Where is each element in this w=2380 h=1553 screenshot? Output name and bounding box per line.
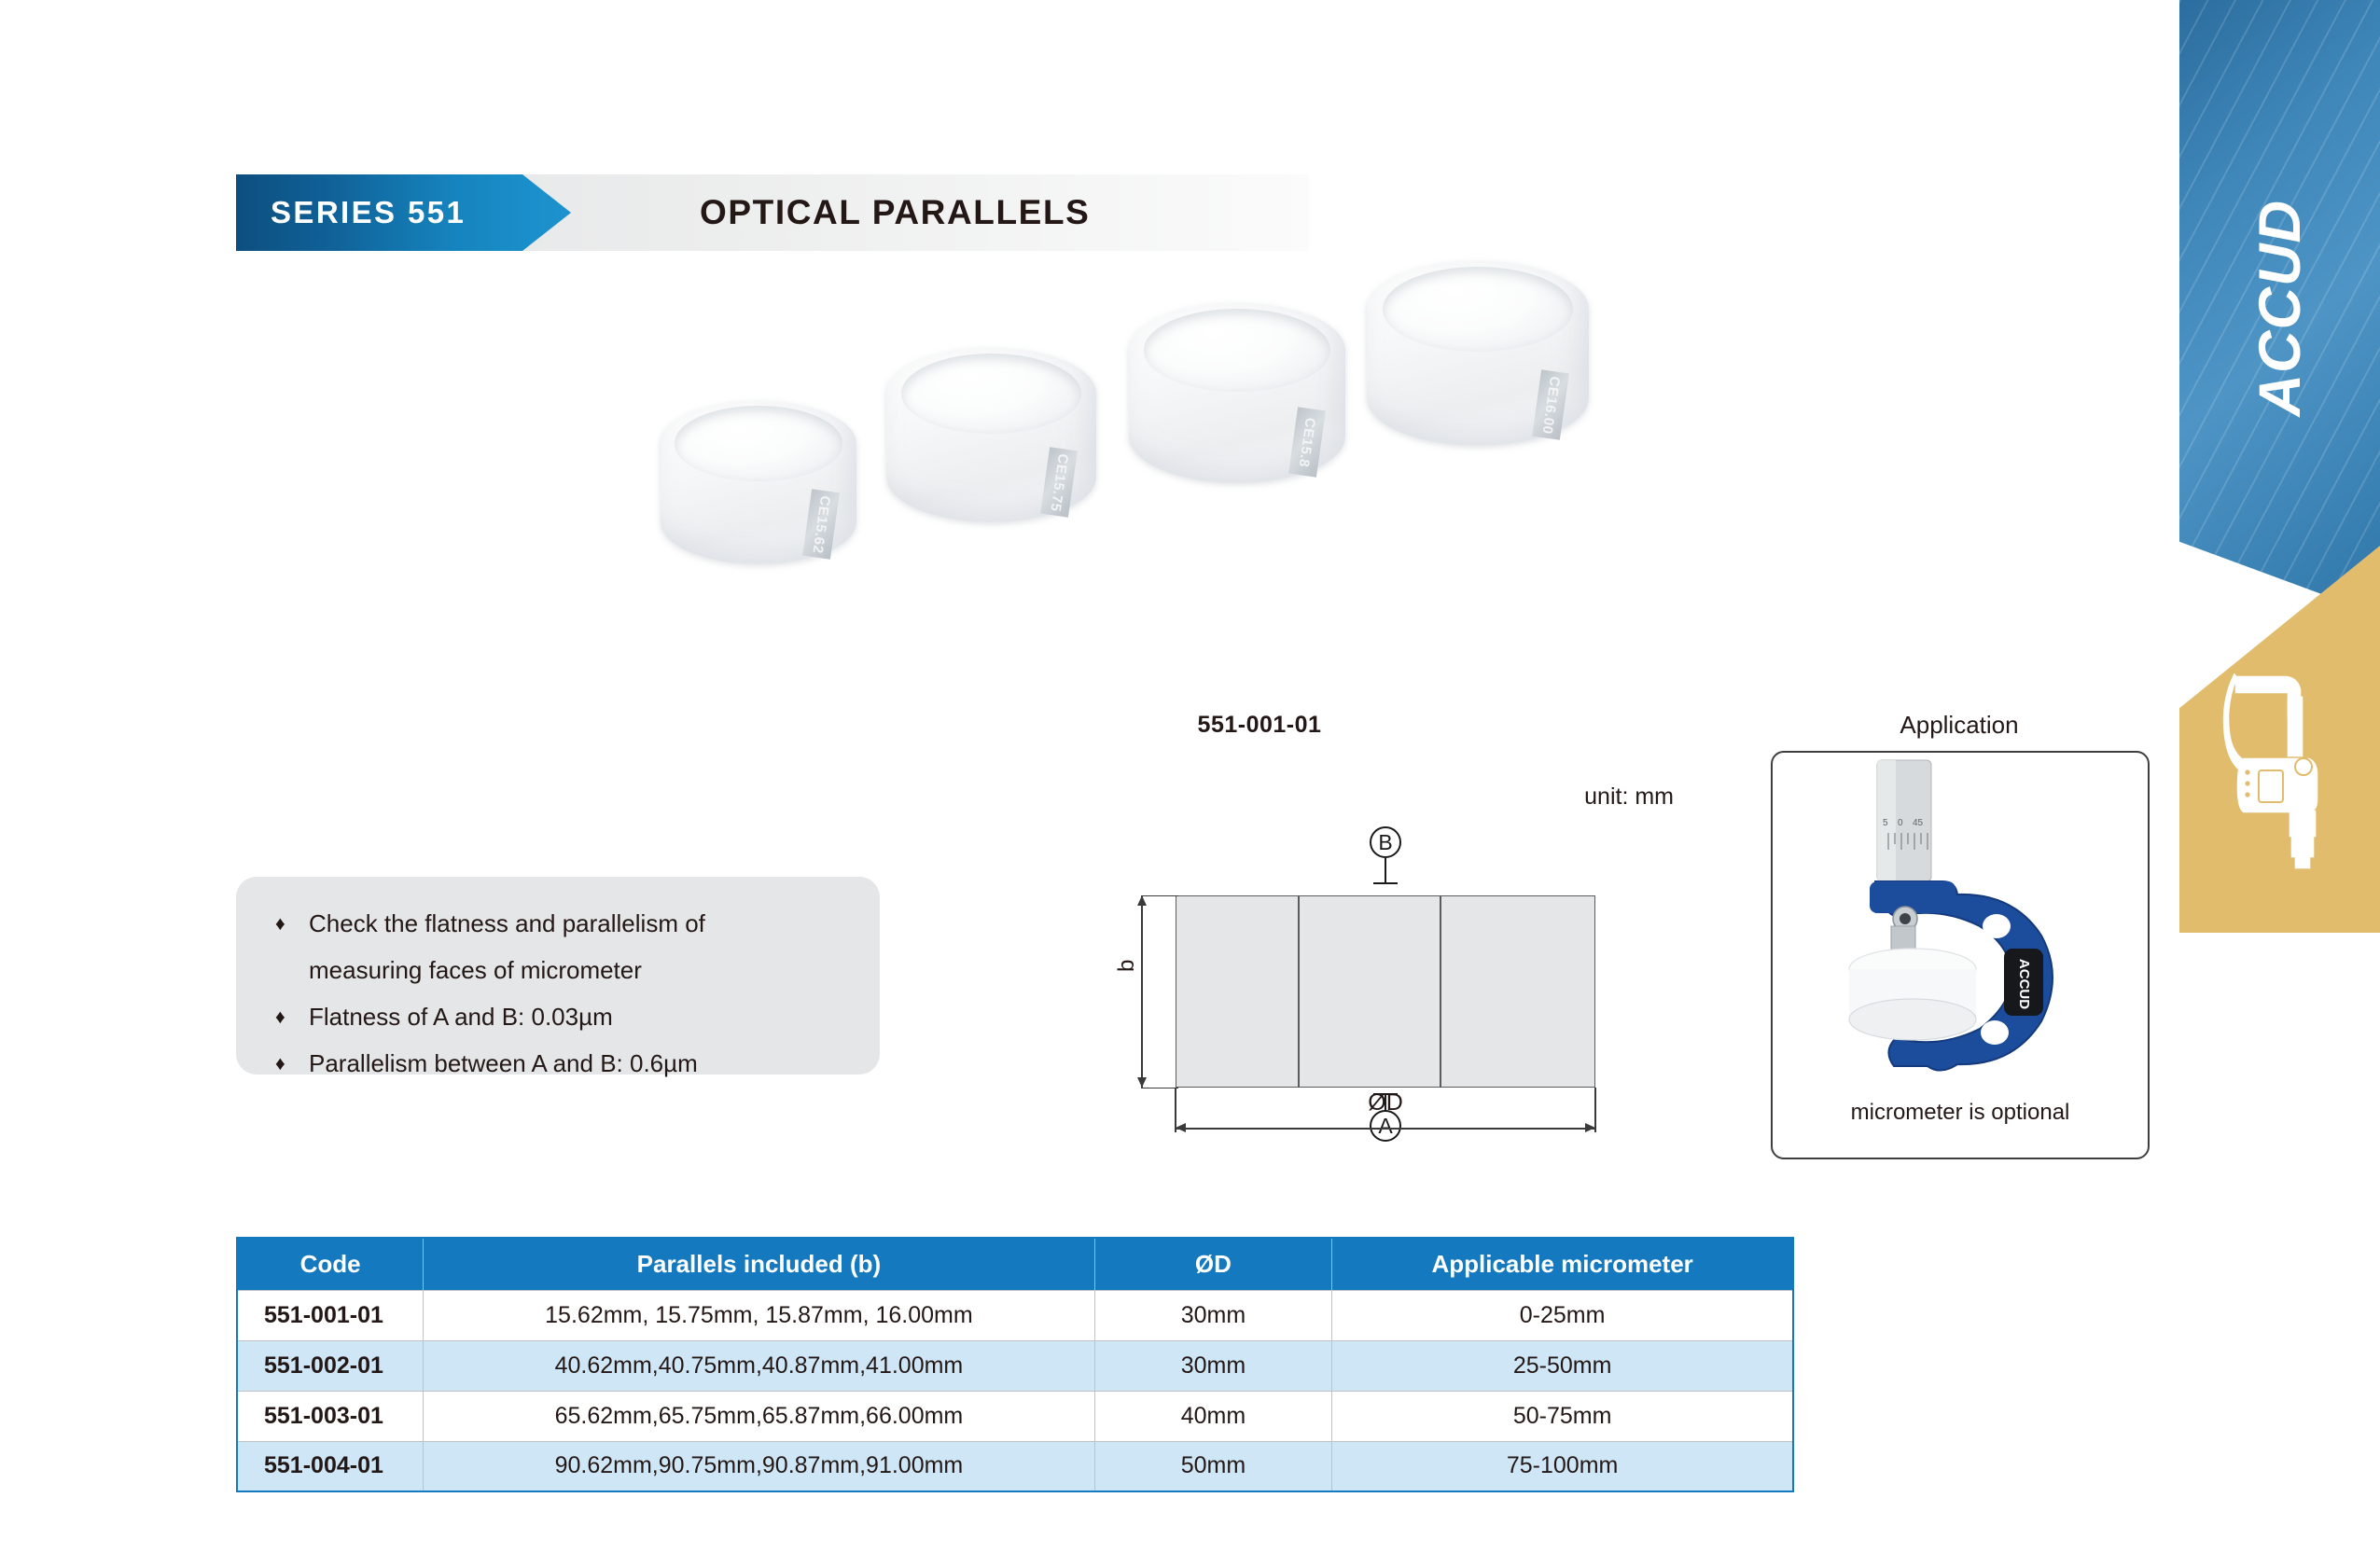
- cell-od: 40mm: [1094, 1391, 1332, 1441]
- feature-list-box: ♦ Check the flatness and parallelism of …: [236, 877, 880, 1075]
- svg-text:45: 45: [1913, 818, 1924, 828]
- parallel-cross-section: [1176, 895, 1595, 1088]
- extension-line-b-top: [1141, 895, 1178, 896]
- series-badge: SERIES 551: [236, 174, 522, 251]
- table-row[interactable]: 551-003-01 65.62mm,65.75mm,65.87mm,66.00…: [237, 1391, 1793, 1441]
- page-header-banner: SERIES 551 OPTICAL PARALLELS: [236, 174, 1309, 251]
- column-header-parallels: Parallels included (b): [424, 1238, 1094, 1290]
- column-header-code: Code: [237, 1238, 424, 1290]
- column-header-od: ØD: [1094, 1238, 1332, 1290]
- application-title: Application: [1749, 711, 2169, 740]
- disc-top-face: [1383, 267, 1574, 352]
- cell-od: 30mm: [1094, 1290, 1332, 1340]
- dimension-line-b: [1141, 895, 1143, 1088]
- diamond-bullet-icon: ♦: [275, 1045, 309, 1083]
- cell-micrometer: 0-25mm: [1332, 1290, 1793, 1340]
- feature-list-item: ♦ Parallelism between A and B: 0.6µm: [275, 1045, 880, 1083]
- section-divider-left: [1298, 896, 1300, 1087]
- dimension-line-od: [1176, 1128, 1595, 1130]
- optical-parallel-disc-1: CE15.62: [661, 401, 856, 564]
- optical-parallel-disc-3: CE15.8: [1129, 303, 1345, 483]
- disc-top-face: [1144, 309, 1330, 392]
- feature-text: measuring faces of micrometer: [309, 951, 642, 990]
- sidebar-micrometer-icon-wrapper: [2179, 653, 2380, 886]
- specification-table: Code Parallels included (b) ØD Applicabl…: [236, 1237, 1794, 1492]
- cell-micrometer: 25-50mm: [1332, 1340, 1793, 1391]
- sidebar-brand-wordmark: ACCUD: [2179, 0, 2380, 616]
- feature-list-item: ♦ Flatness of A and B: 0.03µm: [275, 998, 880, 1036]
- micrometer-with-parallel-illustration: 5045 ACCUD: [1773, 753, 2150, 1126]
- svg-text:5: 5: [1883, 818, 1888, 828]
- svg-text:0: 0: [1898, 818, 1903, 828]
- feature-text: Parallelism between A and B: 0.6µm: [309, 1045, 698, 1083]
- table-row[interactable]: 551-004-01 90.62mm,90.75mm,90.87mm,91.00…: [237, 1441, 1793, 1491]
- brand-sidebar: ACCUD: [2149, 0, 2380, 933]
- dimension-label-b: b: [1114, 960, 1140, 972]
- datum-b-bar: [1373, 882, 1398, 884]
- table-row[interactable]: 551-002-01 40.62mm,40.75mm,40.87mm,41.00…: [237, 1340, 1793, 1391]
- dimension-arrow-od-left: [1176, 1123, 1186, 1132]
- product-photo-group: CE15.62 CE15.75 CE15.8 CE16.00: [653, 261, 1885, 653]
- unit-label: unit: mm: [1584, 783, 1674, 811]
- technical-drawing: unit: mm B A b ØD: [1101, 765, 1698, 1157]
- diamond-bullet-icon: ♦: [275, 905, 309, 943]
- cell-parallels: 65.62mm,65.75mm,65.87mm,66.00mm: [424, 1391, 1094, 1441]
- cell-code: 551-004-01: [237, 1441, 424, 1491]
- cell-parallels: 15.62mm, 15.75mm, 15.87mm, 16.00mm: [424, 1290, 1094, 1340]
- cell-od: 50mm: [1094, 1441, 1332, 1491]
- cell-parallels: 40.62mm,40.75mm,40.87mm,41.00mm: [424, 1340, 1094, 1391]
- dimension-arrow-b-bottom: [1137, 1077, 1147, 1088]
- application-caption: micrometer is optional: [1773, 1100, 2148, 1126]
- series-label: SERIES 551: [271, 195, 466, 230]
- dimension-arrow-b-top: [1137, 895, 1147, 906]
- section-divider-right: [1440, 896, 1441, 1087]
- table-row[interactable]: 551-001-01 15.62mm, 15.75mm, 15.87mm, 16…: [237, 1290, 1793, 1340]
- cell-code: 551-001-01: [237, 1290, 424, 1340]
- feature-text: Check the flatness and parallelism of: [309, 905, 705, 943]
- optical-parallel-disc-2: CE15.75: [886, 348, 1096, 522]
- dimension-label-od: ØD: [1176, 1089, 1595, 1116]
- cell-micrometer: 75-100mm: [1332, 1441, 1793, 1491]
- datum-b-stem: [1385, 858, 1386, 882]
- datum-symbol-b: B: [1370, 826, 1401, 858]
- cell-code: 551-003-01: [237, 1391, 424, 1441]
- extension-line-b-bottom: [1141, 1088, 1178, 1088]
- cell-code: 551-002-01: [237, 1340, 424, 1391]
- bullet-spacer: [275, 951, 309, 990]
- diamond-bullet-icon: ♦: [275, 998, 309, 1036]
- cell-micrometer: 50-75mm: [1332, 1391, 1793, 1441]
- disc-top-face: [901, 354, 1082, 434]
- micrometer-icon: [2220, 670, 2341, 870]
- optical-parallel-disc-4: CE16.00: [1367, 261, 1589, 446]
- svg-text:ACCUD: ACCUD: [2016, 959, 2032, 1009]
- feature-list-item: ♦ Check the flatness and parallelism of: [275, 905, 880, 943]
- page-title: OPTICAL PARALLELS: [700, 193, 1090, 232]
- feature-list-item-continuation: measuring faces of micrometer: [275, 951, 880, 990]
- table-header-row: Code Parallels included (b) ØD Applicabl…: [237, 1238, 1793, 1290]
- product-code-caption: 551-001-01: [1124, 712, 1395, 739]
- dimension-arrow-od-right: [1585, 1123, 1595, 1132]
- disc-top-face: [675, 406, 843, 481]
- cell-parallels: 90.62mm,90.75mm,90.87mm,91.00mm: [424, 1441, 1094, 1491]
- cell-od: 30mm: [1094, 1340, 1332, 1391]
- feature-text: Flatness of A and B: 0.03µm: [309, 998, 613, 1036]
- application-image-panel: 5045 ACCUD micrometer is optional: [1771, 751, 2150, 1159]
- column-header-micrometer: Applicable micrometer: [1332, 1238, 1793, 1290]
